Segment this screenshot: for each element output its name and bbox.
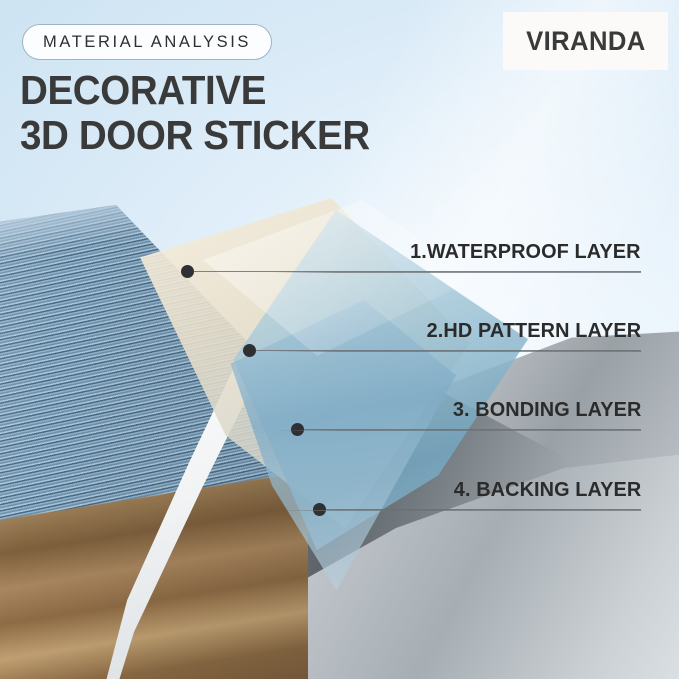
callout-rule-1 bbox=[271, 272, 641, 273]
callout-rule-2 bbox=[271, 351, 641, 352]
callout-label-3: 3. BONDING LAYER bbox=[452, 398, 641, 422]
callout-dot-2 bbox=[243, 344, 256, 357]
callout-group: 1.WATERPROOF LAYER 2.HD PATTERN LAYER 3.… bbox=[0, 0, 679, 679]
callout-rule-4 bbox=[271, 510, 641, 511]
callout-label-4: 4. BACKING LAYER bbox=[453, 478, 641, 502]
callout-label-2: 2.HD PATTERN LAYER bbox=[426, 319, 641, 343]
material-analysis-infographic: MATERIAL ANALYSIS DECORATIVE 3D DOOR STI… bbox=[0, 0, 679, 679]
callout-rule-3 bbox=[271, 430, 641, 431]
callout-label-1: 1.WATERPROOF LAYER bbox=[411, 240, 641, 264]
callout-dot-1 bbox=[181, 265, 194, 278]
